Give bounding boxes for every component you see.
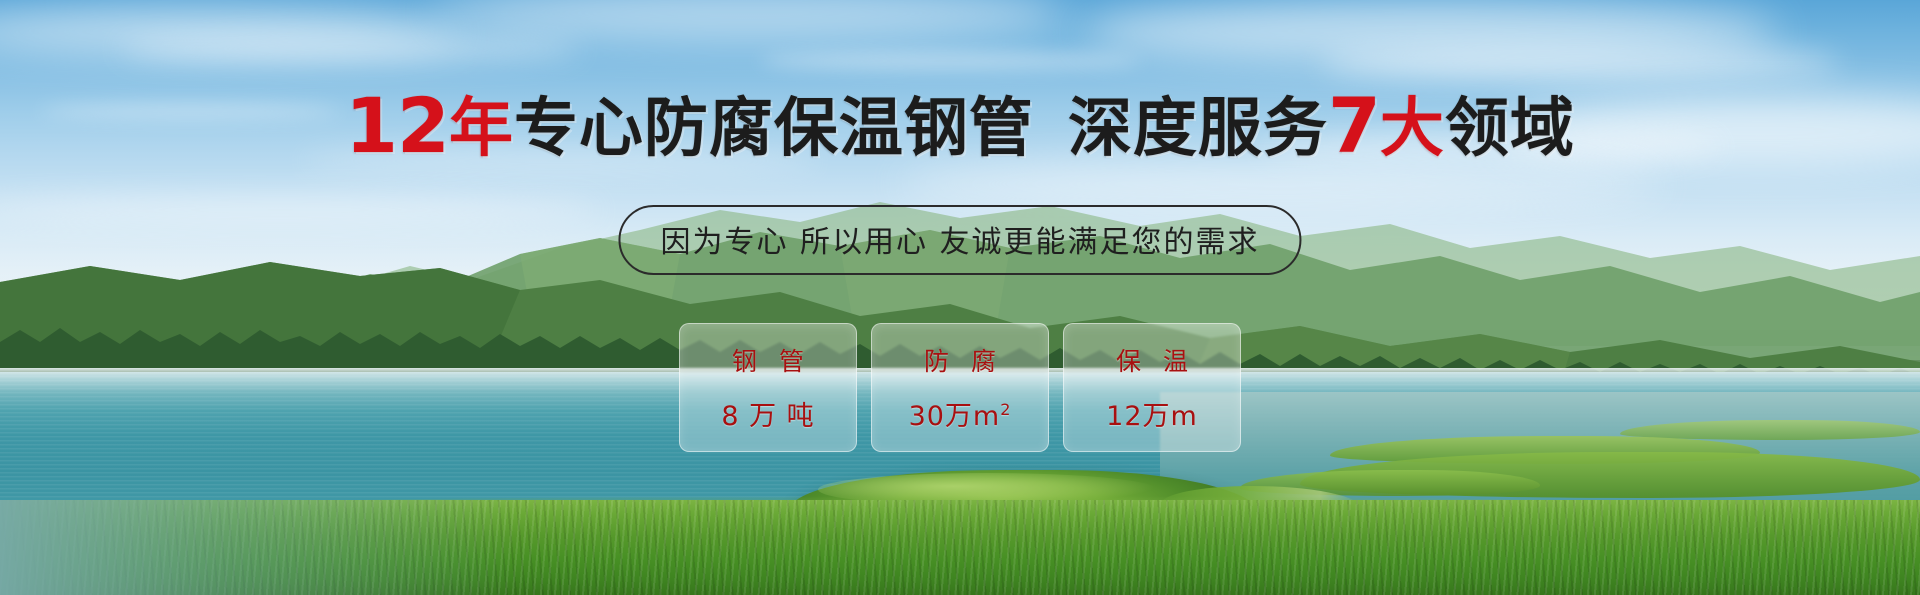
stat-card-group: 钢 管 8 万 吨 防 腐 30万m2 保 温 12万m [679,323,1241,452]
grass-water-blend [0,500,660,595]
stat-card-label: 防 腐 [917,342,1003,378]
headline-main-phrase: 专心防腐保温钢管 [514,92,1034,166]
stat-card-label: 保 温 [1109,342,1195,378]
headline-fields-measure: 大 [1380,92,1445,166]
headline-years-number: 12 [345,81,449,170]
stat-card-insulation[interactable]: 保 温 12万m [1063,323,1241,452]
stat-card-label: 钢 管 [725,342,811,378]
cloud-shape [120,36,580,62]
stat-card-value-text: 8 万 吨 [721,401,814,432]
stat-card-value-text: 30万m [909,401,1001,432]
stat-card-value: 8 万 吨 [721,394,814,433]
stat-card-value-text: 12万m [1106,401,1198,432]
stat-card-steel-pipe[interactable]: 钢 管 8 万 吨 [679,323,857,452]
banner-headline: 12年专心防腐保温钢管深度服务7大领域 [0,88,1920,164]
stat-card-value: 12万m [1106,394,1198,433]
headline-fields-number: 7 [1328,81,1380,170]
stat-card-value-superscript: 2 [1000,400,1011,419]
banner-subtitle-pill: 因为专心 所以用心 友诚更能满足您的需求 [618,205,1301,275]
banner-subtitle-text: 因为专心 所以用心 友诚更能满足您的需求 [660,225,1259,260]
stat-card-anticorrosion[interactable]: 防 腐 30万m2 [871,323,1049,452]
cloud-shape [1320,46,1840,80]
promo-banner: 12年专心防腐保温钢管深度服务7大领域 因为专心 所以用心 友诚更能满足您的需求… [0,0,1920,595]
headline-service-phrase: 深度服务 [1068,92,1328,166]
headline-fields-noun: 领域 [1445,92,1575,166]
cloud-shape [760,52,1140,70]
stat-card-value: 30万m2 [909,394,1012,433]
headline-years-unit: 年 [449,92,514,166]
